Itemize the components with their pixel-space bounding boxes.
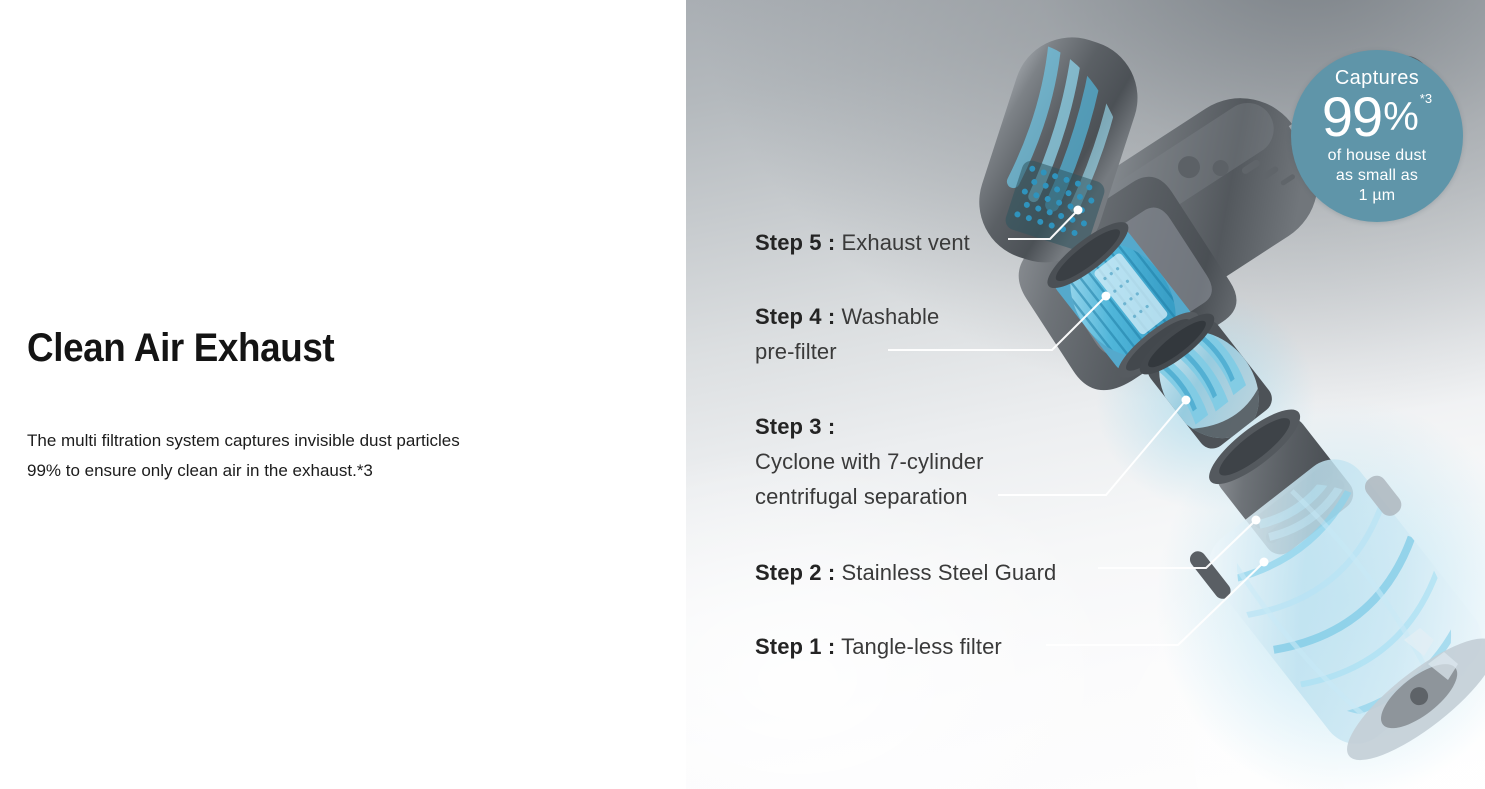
badge-figure: 99 % *3	[1322, 90, 1432, 144]
step-label-3: Step 3 : Cyclone with 7-cylinder centrif…	[755, 409, 984, 514]
step-3-text-1: Cyclone with 7-cylinder	[755, 444, 984, 479]
step-label-4: Step 4 : Washable pre-filter	[755, 299, 939, 369]
badge-footnote-marker: *3	[1420, 92, 1432, 105]
step-label-1: Step 1 : Tangle-less filter	[755, 629, 1002, 664]
body-copy-line-2: 99% to ensure only clean air in the exha…	[27, 456, 567, 486]
badge-description-line-1: of house dust	[1328, 146, 1427, 166]
body-copy-line-1: The multi filtration system captures inv…	[27, 426, 567, 456]
step-4-text-1: Washable	[841, 304, 939, 329]
step-label-5: Step 5 : Exhaust vent	[755, 225, 970, 260]
step-5-text: Exhaust vent	[841, 230, 969, 255]
copy-panel: Clean Air Exhaust The multi filtration s…	[0, 0, 686, 789]
step-1-text: Tangle-less filter	[841, 634, 1002, 659]
step-5-key: Step 5 :	[755, 230, 835, 255]
step-3-text-2: centrifugal separation	[755, 479, 984, 514]
step-4-key: Step 4 :	[755, 304, 835, 329]
step-2-key: Step 2 :	[755, 560, 835, 585]
step-1-key: Step 1 :	[755, 634, 835, 659]
badge-description: of house dust as small as 1 µm	[1328, 146, 1427, 206]
clean-air-exhaust-section: Clean Air Exhaust The multi filtration s…	[0, 0, 1485, 789]
page-title: Clean Air Exhaust	[27, 324, 334, 372]
badge-number: 99	[1322, 90, 1382, 144]
product-visual-panel: Step 5 : Exhaust vent Step 4 : Washable …	[686, 0, 1485, 789]
step-4-line-1: Step 4 : Washable	[755, 299, 939, 334]
capture-badge: Captures 99 % *3 of house dust as small …	[1291, 50, 1463, 222]
badge-percent-sign: %	[1383, 90, 1419, 144]
step-3-key: Step 3 :	[755, 409, 984, 444]
badge-description-line-2: as small as	[1328, 166, 1427, 186]
badge-description-line-3: 1 µm	[1328, 186, 1427, 206]
step-2-text: Stainless Steel Guard	[841, 560, 1056, 585]
body-copy: The multi filtration system captures inv…	[27, 426, 567, 486]
step-4-text-2: pre-filter	[755, 334, 939, 369]
step-label-2: Step 2 : Stainless Steel Guard	[755, 555, 1056, 590]
